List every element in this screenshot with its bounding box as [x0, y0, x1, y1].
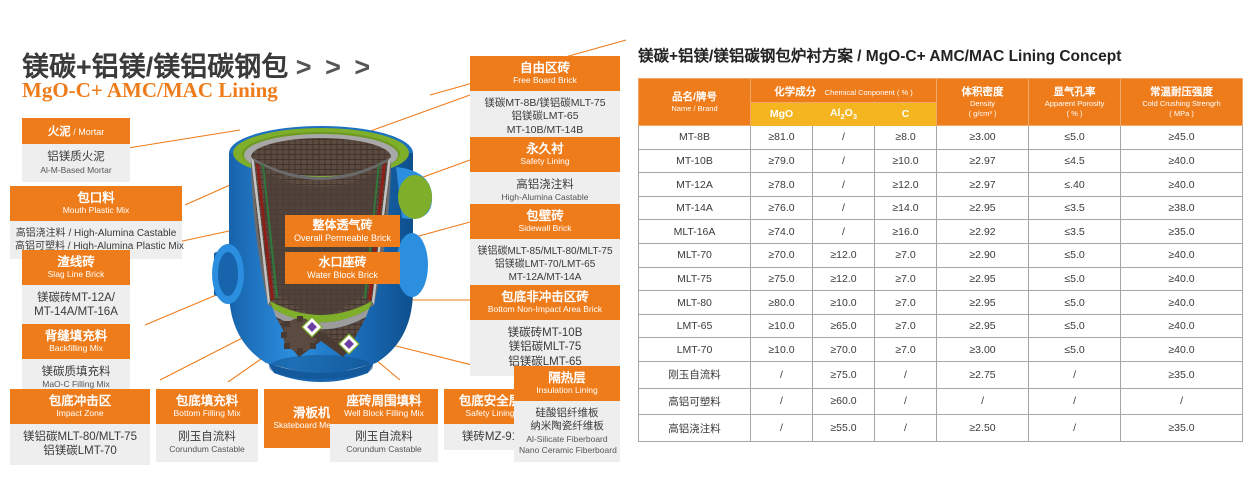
label-card-bottom-non-impact-area-brick: 包底非冲击区砖 Bottom Non-Impact Area Brick 镁碳砖…: [470, 285, 620, 376]
spec-table-panel: 镁碳+铝镁/镁铝碳钢包炉衬方案 / MgO-C+ AMC/MAC Lining …: [630, 0, 1250, 500]
table-cell: ≥10.0: [875, 149, 937, 173]
table-cell: /: [875, 388, 937, 415]
table-cell: ≥55.0: [813, 415, 875, 442]
table-cell: ≥3.00: [937, 126, 1029, 150]
table-cell: /: [1029, 415, 1121, 442]
table-cell: ≥2.50: [937, 415, 1029, 442]
table-cell: ≥40.0: [1121, 338, 1243, 362]
table-cell: ≥10.0: [751, 338, 813, 362]
cell-name-brand: MLT-75: [639, 267, 751, 291]
table-cell: ≥3.00: [937, 338, 1029, 362]
card-header: 包壁砖 Sidewall Brick: [470, 204, 620, 239]
cell-name-brand: 高铝浇注料: [639, 415, 751, 442]
table-cell: ≥75.0: [751, 267, 813, 291]
label-card-backfilling-mix: 背缝填充料 Backfilling Mix 镁碳质填充料 MaO-C Filli…: [22, 324, 130, 397]
table-row: MLT-70≥70.0≥12.0≥7.0≥2.90≤5.0≥40.0: [639, 244, 1243, 268]
th-carbon: C: [875, 103, 937, 126]
cell-name-brand: 刚玉自流料: [639, 362, 751, 389]
table-row: MLT-16A≥74.0/≥16.0≥2.92≤3.5≥35.0: [639, 220, 1243, 244]
table-cell: ≥2.95: [937, 314, 1029, 338]
card-body: 镁碳MT-8B/镁铝碳MLT-75 铝镁碳LMT-65 MT-10B/MT-14…: [470, 91, 620, 144]
table-cell: ≥8.0: [875, 126, 937, 150]
table-cell: /: [813, 196, 875, 220]
card-body: 硅酸铝纤维板 纳米陶瓷纤维板 Al-Silicate Fiberboard Na…: [514, 401, 620, 462]
card-header: 隔热层 Insulation Lining: [514, 366, 620, 401]
table-row: MT-12A≥78.0/≥12.0≥2.97≤.40≥40.0: [639, 173, 1243, 197]
table-cell: /: [751, 362, 813, 389]
th-al2o3: Al2O3: [813, 103, 875, 126]
table-cell: ≥7.0: [875, 291, 937, 315]
card-header: 永久衬 Safety Lining: [470, 137, 620, 172]
label-card-bottom-filling-mix: 包底填充料 Bottom Filling Mix 刚玉自流料 Corundum …: [156, 389, 258, 462]
table-cell: /: [813, 149, 875, 173]
table-cell: ≥40.0: [1121, 244, 1243, 268]
table-cell: ≥40.0: [1121, 267, 1243, 291]
ladle-cross-section-illustration: [196, 105, 446, 395]
table-row: LMT-65≥10.0≥65.0≥7.0≥2.95≤5.0≥40.0: [639, 314, 1243, 338]
table-cell: /: [1029, 362, 1121, 389]
card-header: 包口料 Mouth Plastic Mix: [10, 186, 182, 221]
table-cell: ≥75.0: [813, 362, 875, 389]
table-cell: ≥12.0: [875, 173, 937, 197]
label-card-impact-zone: 包底冲击区 Impact Zone 镁铝碳MLT-80/MLT-75 铝镁碳LM…: [10, 389, 150, 465]
cell-name-brand: 高铝可塑料: [639, 388, 751, 415]
cell-name-brand: LMT-65: [639, 314, 751, 338]
table-row: MT-8B≥81.0/≥8.0≥3.00≤5.0≥45.0: [639, 126, 1243, 150]
card-body: 镁碳砖MT-12A/ MT-14A/MT-16A: [22, 285, 130, 327]
label-card-mouth-plastic-mix: 包口料 Mouth Plastic Mix 高铝浇注料 / High-Alumi…: [10, 186, 182, 259]
table-row: MLT-75≥75.0≥12.0≥7.0≥2.95≤5.0≥40.0: [639, 267, 1243, 291]
table-cell: ≥35.0: [1121, 220, 1243, 244]
table-cell: /: [813, 220, 875, 244]
card-header: 包底填充料 Bottom Filling Mix: [156, 389, 258, 424]
table-cell: ≥45.0: [1121, 126, 1243, 150]
table-row: 刚玉自流料/≥75.0/≥2.75/≥35.0: [639, 362, 1243, 389]
cell-name-brand: MT-10B: [639, 149, 751, 173]
table-cell: /: [813, 173, 875, 197]
table-cell: ≥81.0: [751, 126, 813, 150]
table-row: 高铝浇注料/≥55.0/≥2.50/≥35.0: [639, 415, 1243, 442]
table-cell: ≥40.0: [1121, 173, 1243, 197]
table-cell: ≥10.0: [751, 314, 813, 338]
table-cell: ≤3.5: [1029, 196, 1121, 220]
table-cell: ≥35.0: [1121, 415, 1243, 442]
card-header: 包底非冲击区砖 Bottom Non-Impact Area Brick: [470, 285, 620, 320]
card-body: 铝镁质火泥 Al-M-Based Mortar: [22, 144, 130, 182]
table-head: 品名/牌号 Name / Brand 化学成分 Chemical Conpone…: [639, 79, 1243, 126]
water-block-brick-tag: 水口座砖 Water Block Brick: [285, 252, 400, 284]
table-cell: ≤5.0: [1029, 126, 1121, 150]
label-card-mortar: 火泥 / Mortar 铝镁质火泥 Al-M-Based Mortar: [22, 118, 130, 182]
table-body: MT-8B≥81.0/≥8.0≥3.00≤5.0≥45.0MT-10B≥79.0…: [639, 126, 1243, 442]
spec-table-title: 镁碳+铝镁/镁铝碳钢包炉衬方案 / MgO-C+ AMC/MAC Lining …: [638, 44, 1121, 66]
table-cell: /: [937, 388, 1029, 415]
table-cell: ≥40.0: [1121, 291, 1243, 315]
cell-name-brand: MLT-70: [639, 244, 751, 268]
table-cell: ≥70.0: [751, 244, 813, 268]
table-cell: ≥12.0: [813, 267, 875, 291]
page-subtitle: MgO-C+ AMC/MAC Lining: [22, 78, 278, 103]
table-cell: /: [875, 362, 937, 389]
label-card-insulation-lining: 隔热层 Insulation Lining 硅酸铝纤维板 纳米陶瓷纤维板 Al-…: [514, 366, 620, 462]
card-header: 渣线砖 Slag Line Brick: [22, 250, 130, 285]
th-chemical-component: 化学成分 Chemical Conponent ( % ): [751, 79, 937, 103]
cell-name-brand: MT-8B: [639, 126, 751, 150]
table-cell: ≥2.97: [937, 173, 1029, 197]
label-card-free-board-brick: 自由区砖 Free Board Brick 镁碳MT-8B/镁铝碳MLT-75 …: [470, 56, 620, 143]
card-body: 镁铝碳MLT-80/MLT-75 铝镁碳LMT-70: [10, 424, 150, 466]
table-cell: ≥2.95: [937, 267, 1029, 291]
table-cell: /: [1029, 388, 1121, 415]
card-body: 镁铝碳MLT-85/MLT-80/MLT-75 铝镁碳LMT-70/LMT-65…: [470, 239, 620, 290]
table-cell: ≥70.0: [813, 338, 875, 362]
table-cell: ≥78.0: [751, 173, 813, 197]
table-cell: ≥7.0: [875, 244, 937, 268]
table-cell: ≥2.90: [937, 244, 1029, 268]
label-card-safety-lining: 永久衬 Safety Lining 高铝浇注料 High-Alumina Cas…: [470, 137, 620, 210]
th-name-brand: 品名/牌号 Name / Brand: [639, 79, 751, 126]
cell-name-brand: MLT-16A: [639, 220, 751, 244]
cell-name-brand: LMT-70: [639, 338, 751, 362]
table-cell: ≥74.0: [751, 220, 813, 244]
table-cell: /: [751, 388, 813, 415]
cell-name-brand: MT-12A: [639, 173, 751, 197]
table-cell: ≥35.0: [1121, 362, 1243, 389]
card-header: 背缝填充料 Backfilling Mix: [22, 324, 130, 359]
card-header: 自由区砖 Free Board Brick: [470, 56, 620, 91]
table-row: MT-14A≥76.0/≥14.0≥2.95≤3.5≥38.0: [639, 196, 1243, 220]
cell-name-brand: MT-14A: [639, 196, 751, 220]
table-cell: ≤5.0: [1029, 244, 1121, 268]
table-cell: ≥2.95: [937, 291, 1029, 315]
label-card-slag-line-brick: 渣线砖 Slag Line Brick 镁碳砖MT-12A/ MT-14A/MT…: [22, 250, 130, 326]
table-cell: ≥7.0: [875, 338, 937, 362]
title-chevrons: > > >: [296, 52, 373, 82]
table-cell: /: [813, 126, 875, 150]
table-cell: ≤5.0: [1029, 267, 1121, 291]
table-cell: ≥38.0: [1121, 196, 1243, 220]
table-cell: ≥14.0: [875, 196, 937, 220]
table-cell: /: [751, 415, 813, 442]
table-cell: ≥16.0: [875, 220, 937, 244]
table-row: 高铝可塑料/≥60.0////: [639, 388, 1243, 415]
table-cell: ≥80.0: [751, 291, 813, 315]
table-cell: ≤.40: [1029, 173, 1121, 197]
th-cold-crushing-strength: 常温耐压强度 Cold Crushing Strengrh ( MPa ): [1121, 79, 1243, 126]
table-cell: ≥7.0: [875, 314, 937, 338]
table-cell: ≤5.0: [1029, 291, 1121, 315]
table-cell: ≤4.5: [1029, 149, 1121, 173]
table-cell: ≥60.0: [813, 388, 875, 415]
table-row: MLT-80≥80.0≥10.0≥7.0≥2.95≤5.0≥40.0: [639, 291, 1243, 315]
table-cell: ≤5.0: [1029, 338, 1121, 362]
table-cell: ≥65.0: [813, 314, 875, 338]
th-mgo: MgO: [751, 103, 813, 126]
table-cell: ≥2.97: [937, 149, 1029, 173]
table-cell: ≥40.0: [1121, 149, 1243, 173]
page-root: 镁碳+铝镁/镁铝碳钢包 > > > MgO-C+ AMC/MAC Lining: [0, 0, 1250, 500]
table-row: MT-10B≥79.0/≥10.0≥2.97≤4.5≥40.0: [639, 149, 1243, 173]
card-body: 刚玉自流料 Corundum Castable: [156, 424, 258, 462]
card-header: 座砖周围填料 Well Block Filling Mix: [330, 389, 438, 424]
table-cell: /: [1121, 388, 1243, 415]
table-row: LMT-70≥10.0≥70.0≥7.0≥3.00≤5.0≥40.0: [639, 338, 1243, 362]
table-cell: ≥2.75: [937, 362, 1029, 389]
card-header: 火泥 / Mortar: [22, 118, 130, 144]
table-cell: ≤3.5: [1029, 220, 1121, 244]
cell-name-brand: MLT-80: [639, 291, 751, 315]
table-cell: ≥76.0: [751, 196, 813, 220]
spec-table: 品名/牌号 Name / Brand 化学成分 Chemical Conpone…: [638, 78, 1243, 442]
table-cell: ≥7.0: [875, 267, 937, 291]
table-cell: ≥79.0: [751, 149, 813, 173]
card-header: 包底冲击区 Impact Zone: [10, 389, 150, 424]
lining-diagram-panel: 镁碳+铝镁/镁铝碳钢包 > > > MgO-C+ AMC/MAC Lining: [0, 0, 630, 500]
table-cell: ≥2.92: [937, 220, 1029, 244]
card-body: 刚玉自流料 Corundum Castable: [330, 424, 438, 462]
table-cell: ≤5.0: [1029, 314, 1121, 338]
table-cell: ≥2.95: [937, 196, 1029, 220]
table-cell: /: [875, 415, 937, 442]
label-card-well-block-filling-mix: 座砖周围填料 Well Block Filling Mix 刚玉自流料 Coru…: [330, 389, 438, 462]
table-header-row-1: 品名/牌号 Name / Brand 化学成分 Chemical Conpone…: [639, 79, 1243, 103]
th-density: 体积密度 Density ( g/cm³ ): [937, 79, 1029, 126]
overall-permeable-brick-tag: 整体透气砖 Overall Permeable Brick: [285, 215, 400, 247]
table-cell: ≥40.0: [1121, 314, 1243, 338]
label-card-sidewall-brick: 包壁砖 Sidewall Brick 镁铝碳MLT-85/MLT-80/MLT-…: [470, 204, 620, 290]
table-cell: ≥10.0: [813, 291, 875, 315]
th-apparent-porosity: 显气孔率 Apparent Porosity ( % ): [1029, 79, 1121, 126]
table-cell: ≥12.0: [813, 244, 875, 268]
